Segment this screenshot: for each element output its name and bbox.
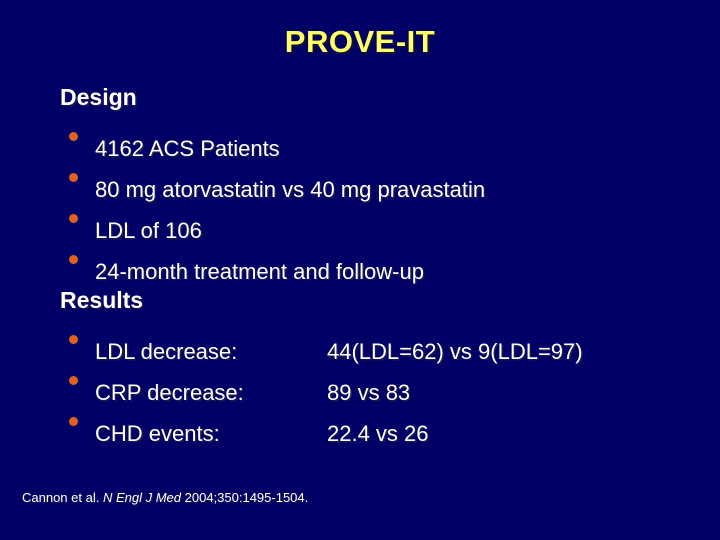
bullet-icon — [60, 115, 95, 156]
bullet-icon — [60, 318, 95, 359]
bullet-icon — [60, 197, 95, 238]
slide: PROVE-IT Design 4162 ACS Patients 80 mg … — [0, 0, 720, 540]
result-value: 89 vs 83 — [327, 372, 410, 413]
page-title: PROVE-IT — [0, 24, 720, 60]
section-heading-design: Design — [60, 82, 670, 115]
list-item-label: 80 mg atorvastatin vs 40 mg pravastatin — [95, 169, 485, 210]
list-item: 4162 ACS Patients — [60, 115, 670, 156]
citation: Cannon et al. N Engl J Med 2004;350:1495… — [22, 490, 308, 505]
list-item-label: 24-month treatment and follow-up — [95, 251, 424, 292]
result-value: 44(LDL=62) vs 9(LDL=97) — [327, 331, 583, 372]
bullet-icon — [60, 400, 95, 441]
list-item-label: 4162 ACS Patients — [95, 128, 280, 169]
result-value: 22.4 vs 26 — [327, 413, 429, 454]
result-label: LDL decrease: — [95, 331, 327, 372]
bullet-icon — [60, 359, 95, 400]
citation-journal: N Engl J Med — [103, 490, 181, 505]
slide-body: Design 4162 ACS Patients 80 mg atorvasta… — [60, 82, 670, 441]
citation-reference: 2004;350:1495-1504. — [185, 490, 309, 505]
bullet-icon — [60, 156, 95, 197]
table-row: LDL decrease: 44(LDL=62) vs 9(LDL=97) — [60, 318, 670, 359]
citation-author: Cannon et al. — [22, 490, 99, 505]
result-label: CHD events: — [95, 413, 327, 454]
list-item-label: LDL of 106 — [95, 210, 202, 251]
bullet-icon — [60, 238, 95, 279]
result-label: CRP decrease: — [95, 372, 327, 413]
